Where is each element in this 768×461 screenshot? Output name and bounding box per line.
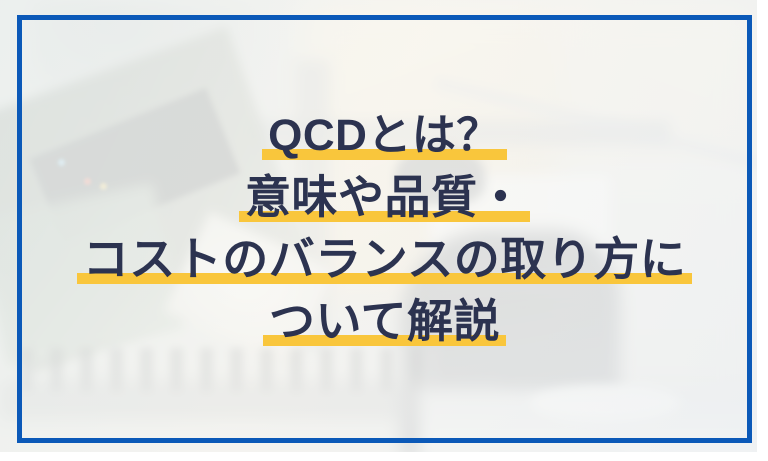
title-line-1-text: QCDとは？ <box>268 111 501 160</box>
title-line-2: 意味や品質・ <box>239 174 530 220</box>
title-line-1: QCDとは？ <box>262 114 507 158</box>
eyecatch-canvas: QCDとは？ 意味や品質・ コストのバランスの取り方に ついて解説 <box>0 0 768 461</box>
title-block: QCDとは？ 意味や品質・ コストのバランスの取り方に ついて解説 <box>17 15 752 443</box>
title-line-4-text: ついて解説 <box>269 295 500 347</box>
title-line-3-text: コストのバランスの取り方に <box>83 233 687 285</box>
title-line-4: ついて解説 <box>263 298 506 344</box>
title-line-2-text: 意味や品質・ <box>245 171 524 223</box>
title-line-3: コストのバランスの取り方に <box>77 236 693 282</box>
